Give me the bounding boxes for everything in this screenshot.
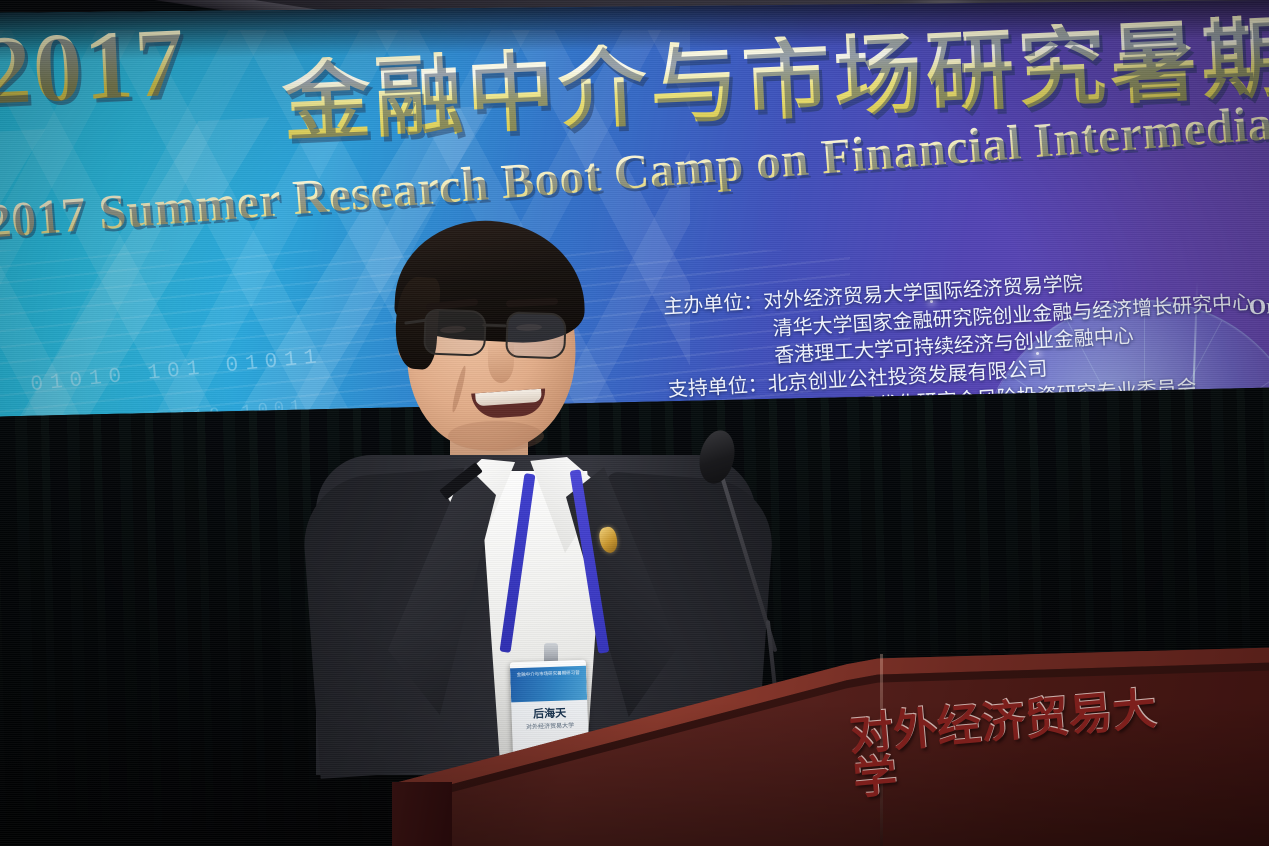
podium-side-panel bbox=[392, 782, 452, 846]
banner-side-organizer-label: Orga bbox=[1248, 292, 1269, 321]
conference-photo-scene: 01010 101 01011 1101 0110 1001 2017 金融中介… bbox=[0, 0, 1269, 846]
chin-shadow bbox=[448, 421, 544, 451]
nose bbox=[488, 341, 514, 383]
lens-left bbox=[423, 309, 487, 357]
podium: 对外经济贸易大学 bbox=[392, 632, 1269, 846]
banner-year: 2017 bbox=[0, 13, 188, 120]
lens-right bbox=[505, 311, 567, 359]
